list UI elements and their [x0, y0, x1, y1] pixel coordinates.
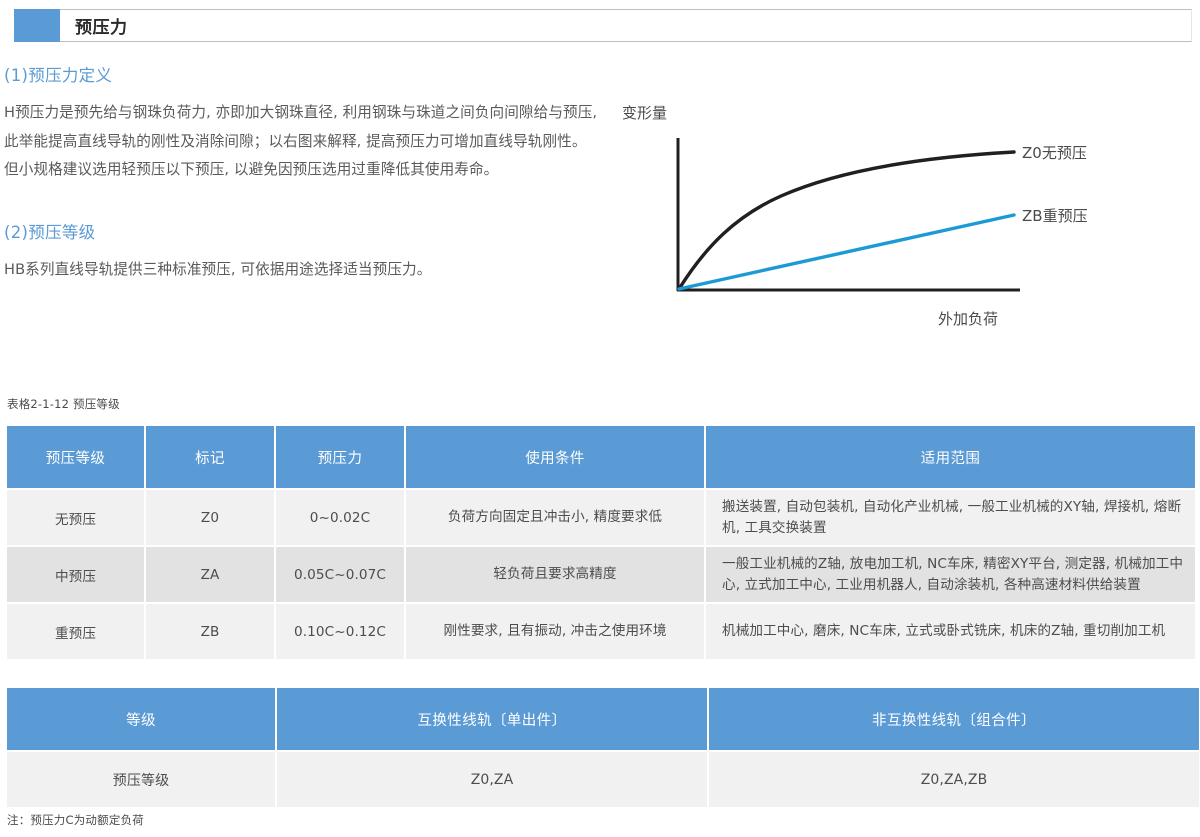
- table1-header-application: 适用范围: [706, 426, 1195, 488]
- table1-cell-application: 搬送装置, 自动包装机, 自动化产业机械, 一般工业机械的XY轴, 焊接机, 熔…: [706, 490, 1195, 545]
- section-1-heading: (1)预压力定义: [4, 62, 599, 86]
- table1-header-grade: 预压等级: [7, 426, 144, 488]
- section-2-body: HB系列直线导轨提供三种标准预压, 可依据用途选择适当预压力。: [4, 256, 599, 285]
- table2-cell-grade-label: 预压等级: [7, 752, 275, 807]
- section-2-paragraph: HB系列直线导轨提供三种标准预压, 可依据用途选择适当预压力。: [4, 256, 599, 285]
- table1-header-condition: 使用条件: [406, 426, 704, 488]
- table1-caption: 表格2-1-12 预压等级: [7, 396, 120, 412]
- chart-y-axis-label: 变形量: [622, 104, 667, 122]
- table1-cell-condition: 负荷方向固定且冲击小, 精度要求低: [406, 490, 704, 545]
- table2-cell-non-interchangeable: Z0,ZA,ZB: [709, 752, 1199, 807]
- table1-cell-mark: ZA: [146, 547, 274, 602]
- table1-cell-force: 0.05C~0.07C: [276, 547, 404, 602]
- section-2-heading: (2)预压等级: [4, 219, 599, 243]
- chart-series-z0-label: Z0无预压: [1022, 144, 1087, 162]
- table-row: 无预压 Z0 0~0.02C 负荷方向固定且冲击小, 精度要求低 搬送装置, 自…: [7, 490, 1195, 545]
- table1-header-force: 预压力: [276, 426, 404, 488]
- table1-cell-grade: 无预压: [7, 490, 144, 545]
- table-row: 重预压 ZB 0.10C~0.12C 刚性要求, 且有振动, 冲击之使用环境 机…: [7, 604, 1195, 659]
- section-1-paragraph: H预压力是预先给与钢珠负荷力, 亦即加大钢珠直径, 利用钢珠与珠道之间负向间隙给…: [4, 99, 599, 185]
- table1-cell-application: 一般工业机械的Z轴, 放电加工机, NC车床, 精密XY平台, 测定器, 机械加…: [706, 547, 1195, 602]
- table1-header-row: 预压等级 标记 预压力 使用条件 适用范围: [7, 426, 1195, 488]
- table2-header-row: 等级 互换性线轨〔单出件〕 非互换性线轨〔组合件〕: [7, 688, 1199, 750]
- chart-series-zb-label: ZB重预压: [1022, 207, 1088, 225]
- table1-header-mark: 标记: [146, 426, 274, 488]
- chart-svg: 变形量 Z0无预压 ZB重预压 外加负荷: [616, 96, 1196, 336]
- table1-cell-grade: 重预压: [7, 604, 144, 659]
- page-root: 预压力 (1)预压力定义 H预压力是预先给与钢珠负荷力, 亦即加大钢珠直径, 利…: [0, 0, 1200, 837]
- table2-header-interchangeable: 互换性线轨〔单出件〕: [277, 688, 707, 750]
- rail-interchangeability-table: 等级 互换性线轨〔单出件〕 非互换性线轨〔组合件〕 预压等级 Z0,ZA Z0,…: [5, 686, 1200, 809]
- left-text-column: (1)预压力定义 H预压力是预先给与钢珠负荷力, 亦即加大钢珠直径, 利用钢珠与…: [4, 62, 599, 284]
- table1-cell-grade: 中预压: [7, 547, 144, 602]
- section-1-body: H预压力是预先给与钢珠负荷力, 亦即加大钢珠直径, 利用钢珠与珠道之间负向间隙给…: [4, 99, 599, 185]
- table1-cell-condition: 刚性要求, 且有振动, 冲击之使用环境: [406, 604, 704, 659]
- table-row: 中预压 ZA 0.05C~0.07C 轻负荷且要求高精度 一般工业机械的Z轴, …: [7, 547, 1195, 602]
- table2-cell-interchangeable: Z0,ZA: [277, 752, 707, 807]
- section-header-bar: 预压力: [14, 9, 1192, 42]
- table1-cell-force: 0.10C~0.12C: [276, 604, 404, 659]
- preload-deformation-chart: 变形量 Z0无预压 ZB重预压 外加负荷: [616, 96, 1196, 336]
- table1-cell-condition: 轻负荷且要求高精度: [406, 547, 704, 602]
- table1-cell-application: 机械加工中心, 磨床, NC车床, 立式或卧式铣床, 机床的Z轴, 重切削加工机: [706, 604, 1195, 659]
- table1-cell-mark: Z0: [146, 490, 274, 545]
- page-title: 预压力: [75, 13, 128, 38]
- preload-grade-table: 预压等级 标记 预压力 使用条件 适用范围 无预压 Z0 0~0.02C 负荷方…: [5, 424, 1197, 661]
- table1-cell-mark: ZB: [146, 604, 274, 659]
- chart-x-axis-label: 外加负荷: [938, 310, 998, 328]
- table-footnote: 注：预压力C为动额定负荷: [7, 812, 144, 828]
- header-accent-swatch: [14, 9, 60, 42]
- table1-cell-force: 0~0.02C: [276, 490, 404, 545]
- table-row: 预压等级 Z0,ZA Z0,ZA,ZB: [7, 752, 1199, 807]
- chart-series-z0-curve: [679, 152, 1014, 289]
- table2-header-non-interchangeable: 非互换性线轨〔组合件〕: [709, 688, 1199, 750]
- chart-series-zb-line: [679, 215, 1014, 289]
- table2-header-grade: 等级: [7, 688, 275, 750]
- header-title-container: 预压力: [60, 9, 1192, 42]
